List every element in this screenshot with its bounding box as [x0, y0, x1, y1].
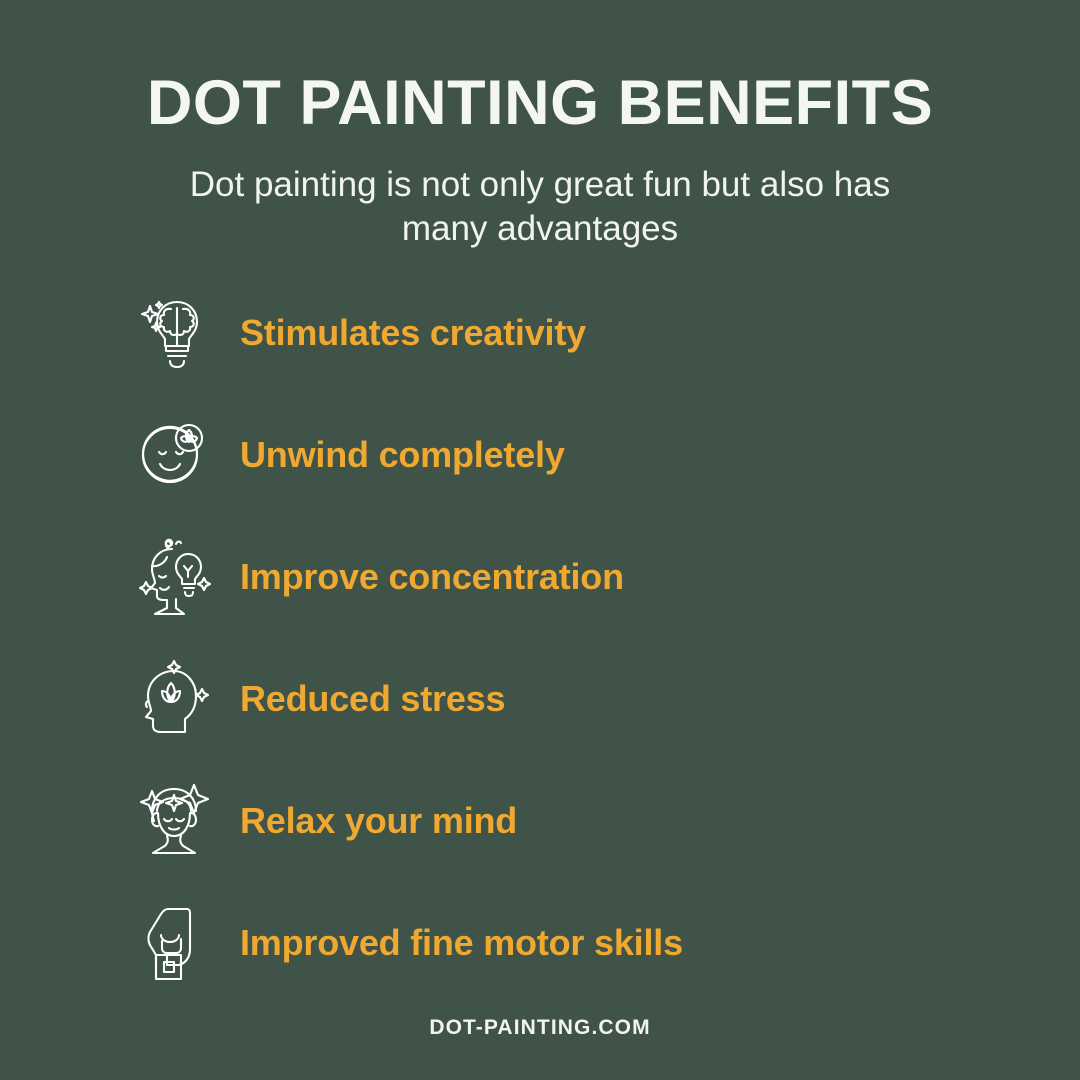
list-item: Reduced stress [136, 655, 996, 743]
head-lotus-icon [136, 656, 212, 742]
list-item-label: Improve concentration [240, 556, 624, 598]
page-title: DOT PAINTING BENEFITS [0, 72, 1080, 135]
infographic-poster: DOT PAINTING BENEFITS Dot painting is no… [0, 0, 1080, 1080]
hand-pinch-icon [136, 900, 212, 986]
list-item-label: Reduced stress [240, 678, 505, 720]
list-item-label: Unwind completely [240, 434, 565, 476]
list-item-label: Stimulates creativity [240, 312, 586, 354]
list-item: Relax your mind [136, 777, 996, 865]
list-item: Improved fine motor skills [136, 899, 996, 987]
list-item: Improve concentration [136, 533, 996, 621]
brain-lightbulb-icon [136, 290, 212, 376]
list-item-label: Improved fine motor skills [240, 922, 683, 964]
page-subtitle: Dot painting is not only great fun but a… [145, 135, 935, 251]
list-item: Unwind completely [136, 411, 996, 499]
poster-footer: DOT-PAINTING.COM [0, 1016, 1080, 1040]
head-lightbulb-icon [136, 534, 212, 620]
poster-header: DOT PAINTING BENEFITS Dot painting is no… [0, 72, 1080, 251]
benefits-list: Stimulates creativity Unwind complet [136, 289, 996, 1021]
calm-face-stars-icon [136, 778, 212, 864]
smiling-face-flower-icon [136, 412, 212, 498]
list-item: Stimulates creativity [136, 289, 996, 377]
website-url: DOT-PAINTING.COM [429, 1016, 650, 1039]
list-item-label: Relax your mind [240, 800, 517, 842]
